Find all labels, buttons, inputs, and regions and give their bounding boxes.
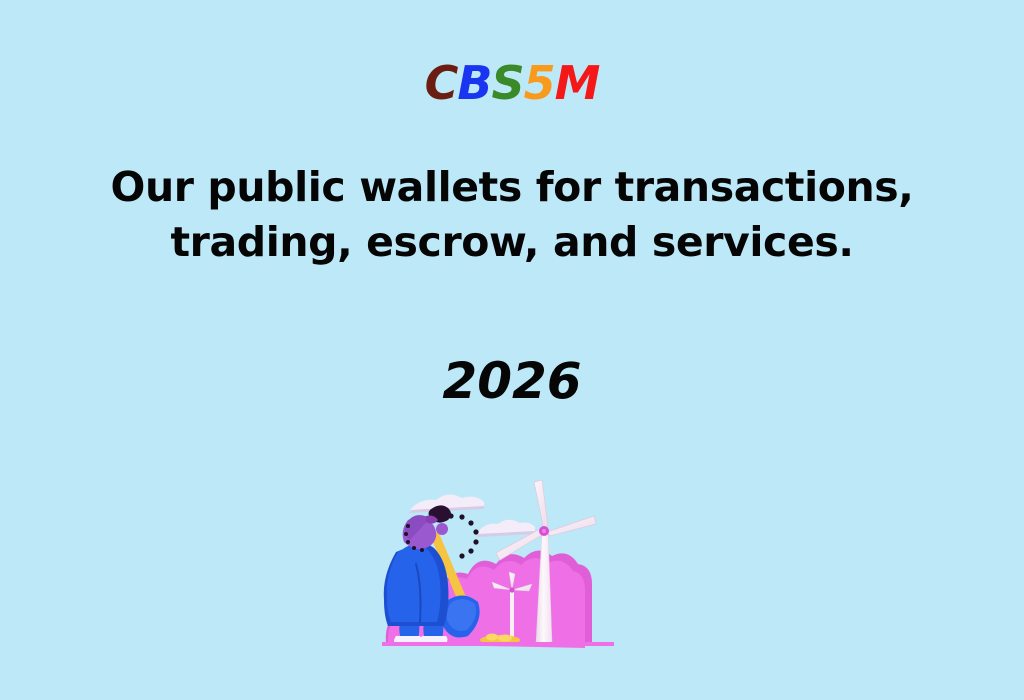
logo-letter-m: M — [555, 60, 600, 106]
logo-letter-5: 5 — [524, 60, 555, 106]
headline-line-2: trading, escrow, and services. — [62, 215, 962, 270]
logo-letter-s: S — [491, 60, 523, 106]
logo-letter-c: C — [425, 60, 458, 106]
logo-letter-b: B — [457, 60, 491, 106]
headline-line-1: Our public wallets for transactions, — [62, 160, 962, 215]
cloud-icon-lower — [477, 520, 535, 537]
year-label: 2026 — [0, 352, 1024, 410]
headline: Our public wallets for transactions, tra… — [62, 160, 962, 271]
brand-logo: CBS5M — [0, 60, 1024, 106]
illustration-wind-farm-worker — [372, 472, 624, 652]
slide-canvas: CBS5M Our public wallets for transaction… — [0, 0, 1024, 700]
